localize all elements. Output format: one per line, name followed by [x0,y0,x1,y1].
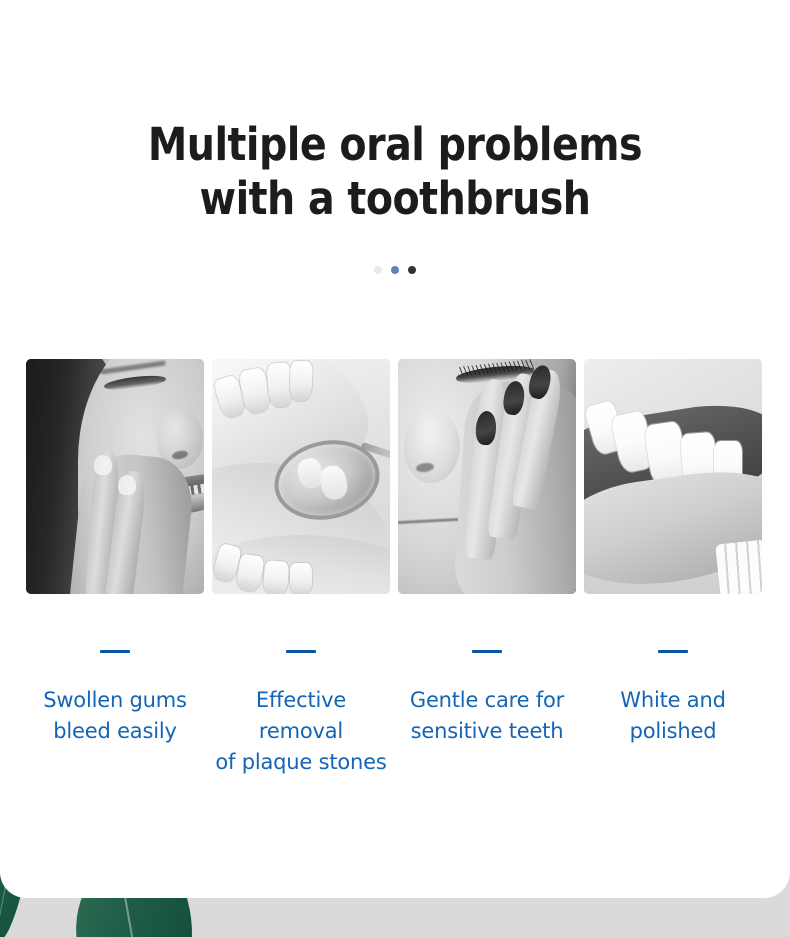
feature-caption-4: White and polished [584,650,762,778]
caption-text: White and polished [584,685,762,747]
reflected-tooth-shape [317,463,350,502]
content-panel: Multiple oral problems with a toothbrush [0,0,790,898]
caption-text: Effective removal of plaque stones [212,685,390,778]
feature-image-1[interactable] [26,359,204,594]
caption-rule [472,650,502,653]
tooth-shape [290,563,313,594]
photo-woman-with-braces [26,359,204,594]
photo-dental-model-with-mirror [212,359,390,594]
feature-image-2[interactable] [212,359,390,594]
feature-caption-3: Gentle care for sensitive teeth [398,650,576,778]
carousel-dot-1[interactable] [374,266,382,274]
page-title: Multiple oral problems with a toothbrush [47,118,742,226]
caption-rule [658,650,688,653]
feature-image-4[interactable] [584,359,762,594]
photo-white-teeth-closeup [584,359,762,594]
fingernail-shape [94,455,112,475]
feature-caption-1: Swollen gums bleed easily [26,650,204,778]
feature-caption-row: Swollen gums bleed easily Effective remo… [26,650,764,778]
tooth-shape [715,540,762,594]
tooth-shape [289,361,312,402]
caption-rule [286,650,316,653]
tooth-shape [263,560,289,594]
caption-text: Swollen gums bleed easily [26,685,204,747]
carousel-indicator[interactable] [0,266,790,274]
photo-woman-holding-cheek [398,359,576,594]
carousel-dot-3[interactable] [408,266,416,274]
fingernail-shape [118,475,136,495]
feature-caption-2: Effective removal of plaque stones [212,650,390,778]
caption-rule [100,650,130,653]
feature-image-row [26,359,764,594]
caption-text: Gentle care for sensitive teeth [398,685,576,747]
feature-image-3[interactable] [398,359,576,594]
carousel-dot-2[interactable] [391,266,399,274]
